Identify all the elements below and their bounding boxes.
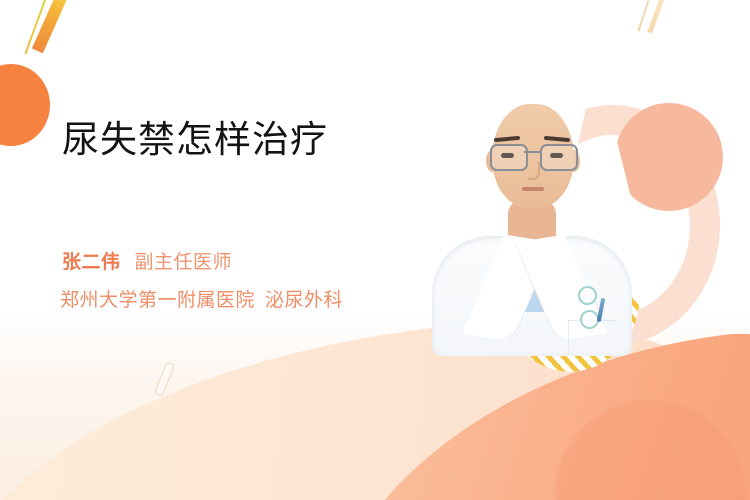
glasses-icon <box>488 144 578 168</box>
glasses-lens-right <box>540 144 578 171</box>
page-title: 尿失禁怎样治疗 <box>62 118 328 162</box>
salmon-wave-lobe <box>555 400 745 500</box>
doctor-name: 张二伟 <box>62 252 121 273</box>
orange-circle-icon <box>0 64 50 146</box>
glasses-lens-left <box>490 144 528 171</box>
doctor-credential-line-2: 郑州大学第一附属医院泌尿外科 <box>60 288 343 315</box>
coat-badge-upper <box>578 286 597 305</box>
hospital-name: 郑州大学第一附属医院 <box>60 290 255 311</box>
hospital-department: 泌尿外科 <box>265 290 343 311</box>
video-cover-card: 尿失禁怎样治疗 张二伟副主任医师 郑州大学第一附属医院泌尿外科 <box>0 0 750 500</box>
diagonal-streak-icon <box>32 0 72 53</box>
doctor-rank: 副主任医师 <box>135 252 233 273</box>
outlined-sliver-icon <box>154 362 175 397</box>
mouth <box>522 187 544 191</box>
pale-wave-shape <box>0 297 750 500</box>
diagonal-streak-topright-icon <box>647 0 667 33</box>
diagonal-thin-streak-icon <box>24 0 49 54</box>
diagonal-thin-streak-topright-icon <box>638 0 653 31</box>
doctor-portrait-icon <box>430 88 635 353</box>
doctor-credential-line-1: 张二伟副主任医师 <box>62 250 232 277</box>
glasses-bridge <box>524 151 540 153</box>
